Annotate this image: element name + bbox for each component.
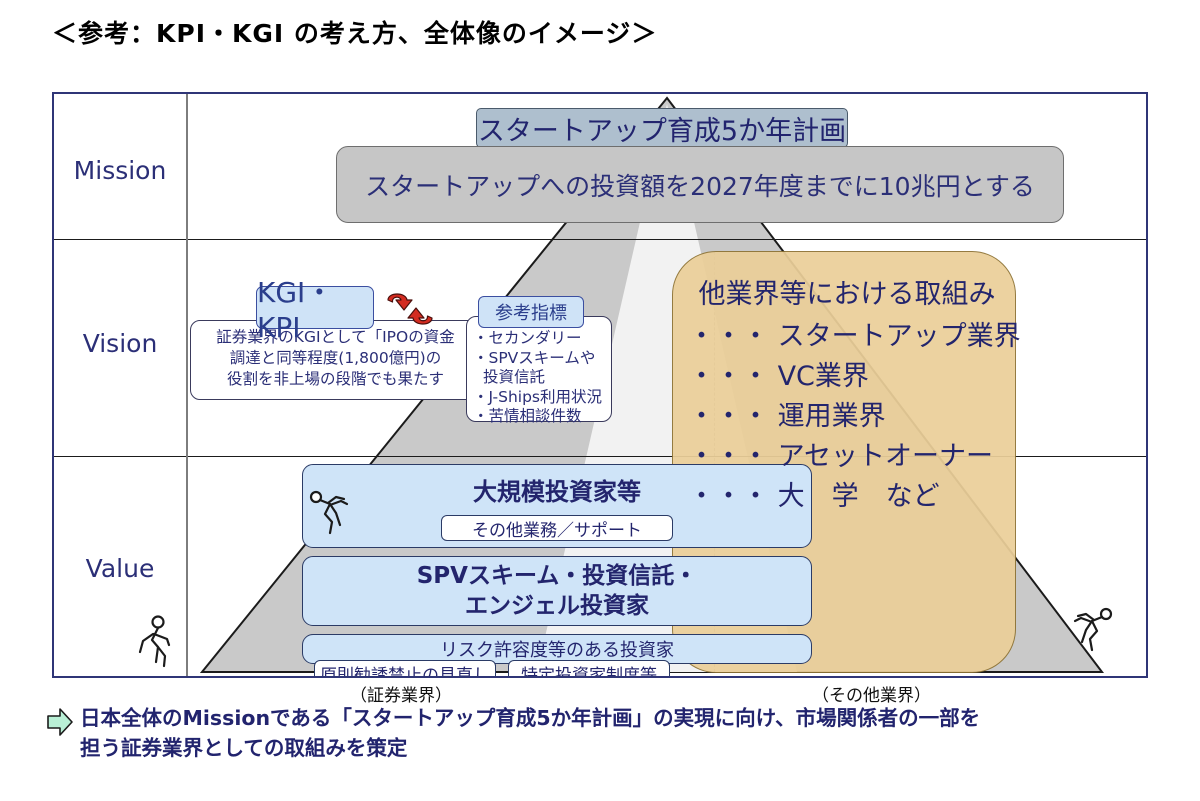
other-industry-item: ・・・ スタートアップ業界 (682, 317, 1012, 357)
summary-text: 日本全体のMissionである「スタートアップ育成5か年計画」の実現に向け、市場… (80, 703, 1160, 763)
row-label-vision: Vision (54, 329, 186, 358)
reference-item-2: ・SPVスキームや (473, 349, 607, 369)
reference-indicator-chip: 参考指標 (478, 296, 584, 328)
value-box-mid-line-1: SPVスキーム・投資信託・ (417, 561, 698, 591)
kgi-kpi-desc-line-2: 調達と同等程度(1,800億円)の (200, 348, 471, 369)
other-industries-content: 他業界等における取組み ・・・ スタートアップ業界 ・・・ VC業界 ・・・ 運… (682, 272, 1012, 517)
climbing-person-icon (306, 489, 358, 537)
page-title: ＜参考：KPI・KGI の考え方、全体像のイメージ＞ (52, 14, 657, 50)
climbing-person-icon (1064, 606, 1118, 656)
kgi-kpi-chip: KGI・KPI (256, 286, 374, 329)
value-box-mid-line-2: エンジェル投資家 (465, 591, 649, 621)
other-industries-heading: 他業界等における取組み (682, 272, 1012, 311)
diagram-frame: Mission Vision Value スタートアップ育成5か年計画 スタート… (52, 92, 1148, 678)
reference-item-4: ・J-Ships利用状況 (473, 388, 607, 408)
cycle-arrow-icon (380, 290, 440, 328)
row-divider-mission-vision (54, 239, 1146, 240)
mission-plan-title: スタートアップ育成5か年計画 (476, 108, 848, 148)
right-arrow-icon (46, 706, 74, 738)
reference-indicator-list: ・セカンダリー ・SPVスキームや 投資信託 ・J-Ships利用状況 ・苦情相… (466, 316, 612, 422)
label-column-divider (186, 94, 188, 676)
other-industry-item: ・・・ 運用業界 (682, 397, 1012, 437)
tag-other-services: その他業務／サポート (441, 515, 673, 541)
kgi-kpi-desc-line-3: 役割を非上場の段階でも果たす (200, 369, 471, 390)
tag-solicitation-review: 原則勧誘禁止の見直し (314, 660, 496, 678)
reference-item-1: ・セカンダリー (473, 329, 607, 349)
walking-person-icon (134, 614, 180, 670)
summary-line-2: 担う証券業界としての取組みを策定 (80, 733, 1160, 763)
mission-statement: スタートアップへの投資額を2027年度までに10兆円とする (336, 146, 1064, 223)
other-industry-item: ・・・ VC業界 (682, 357, 1012, 397)
row-label-value: Value (54, 554, 186, 583)
summary-line-1: 日本全体のMissionである「スタートアップ育成5か年計画」の実現に向け、市場… (80, 703, 1160, 733)
tag-qualified-investor-system: 特定投資家制度等 (508, 660, 670, 678)
row-label-mission: Mission (54, 156, 186, 185)
value-box-spv-scheme: SPVスキーム・投資信託・ エンジェル投資家 (302, 556, 812, 626)
reference-item-3: 投資信託 (473, 368, 607, 388)
other-industry-item: ・・・ アセットオーナー (682, 437, 1012, 477)
other-industry-item: ・・・ 大 学 など (682, 477, 1012, 517)
reference-item-5: ・苦情相談件数 (473, 407, 607, 427)
